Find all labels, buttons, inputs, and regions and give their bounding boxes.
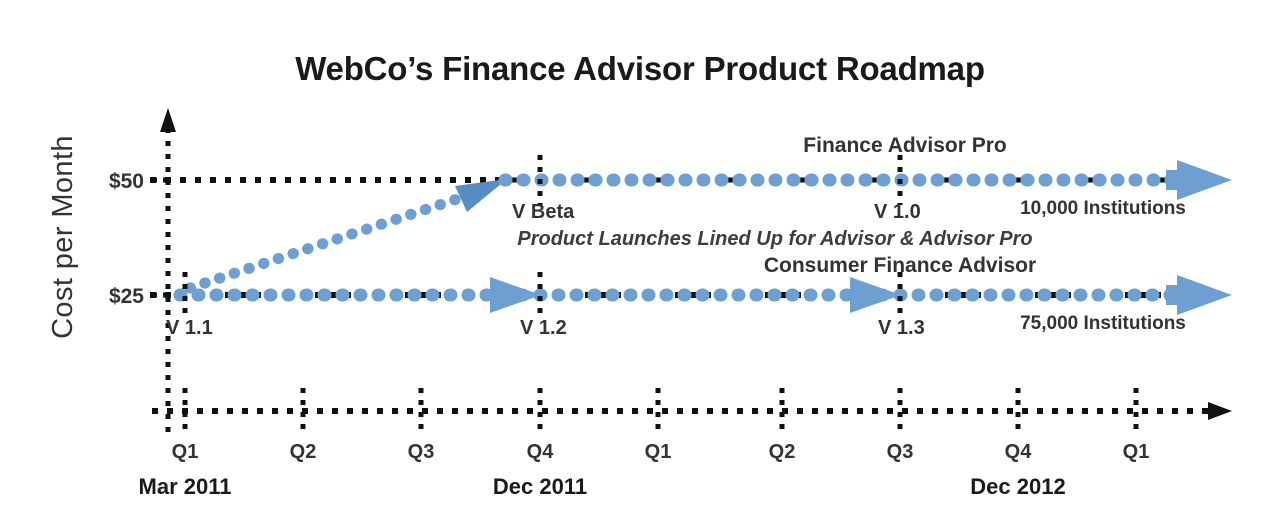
period-label-dec-2011: Dec 2011	[493, 474, 587, 499]
series-consumer-mid-arrow-2-icon	[850, 277, 901, 313]
milestone-v-beta-label: V Beta	[512, 201, 575, 223]
x-period-labels: Mar 2011 Dec 2011 Dec 2012	[139, 474, 1066, 499]
series-pro-end-arrow-icon	[1177, 160, 1232, 200]
x-tick-label-2: Q3	[408, 441, 435, 463]
ramp-arrowhead-icon	[455, 179, 507, 212]
x-tick-label-6: Q3	[887, 441, 914, 463]
x-tick-label-1: Q2	[290, 441, 317, 463]
series-pro-name-label: Finance Advisor Pro	[803, 134, 1006, 157]
x-axis: Q1 Q2 Q3 Q4 Q1 Q2 Q3 Q4 Q1 Mar 2011 Dec …	[139, 388, 1232, 499]
series-consumer-end-arrow-tail	[1166, 285, 1180, 305]
x-tick-label-5: Q2	[769, 441, 796, 463]
ramp-dots	[190, 196, 466, 288]
period-label-dec-2012: Dec 2012	[970, 474, 1065, 499]
milestone-v12: V 1.2	[520, 272, 567, 339]
series-consumer-name-label: Consumer Finance Advisor	[764, 254, 1036, 277]
period-label-mar-2011: Mar 2011	[139, 474, 232, 499]
y-axis	[160, 108, 176, 432]
page-title: WebCo’s Finance Advisor Product Roadmap	[295, 50, 985, 87]
x-axis-arrow-icon	[1208, 402, 1232, 420]
x-tick-labels: Q1 Q2 Q3 Q4 Q1 Q2 Q3 Q4 Q1	[172, 441, 1150, 463]
series-consumer-end-arrow-icon	[1177, 275, 1232, 315]
series-pro-endcap-label: 10,000 Institutions	[1020, 198, 1186, 219]
series-consumer-finance-advisor: V 1.1 V 1.2 V 1.3 Consumer Finance Advis…	[166, 254, 1232, 339]
series-finance-advisor-pro: V Beta V 1.0 Finance Advisor Pro 10,000 …	[190, 134, 1232, 288]
roadmap-chart-page: WebCo’s Finance Advisor Product Roadmap …	[0, 0, 1280, 517]
annotation-product-launches: Product Launches Lined Up for Advisor & …	[517, 228, 1032, 250]
ramp-dotted-line	[190, 179, 507, 288]
milestone-v13: V 1.3	[878, 272, 925, 339]
milestone-v13-label: V 1.3	[878, 317, 925, 339]
milestone-v10-label: V 1.0	[874, 201, 921, 223]
x-tick-label-3: Q4	[527, 441, 555, 463]
x-tick-label-0: Q1	[172, 441, 199, 463]
y-tick-label-25: $25	[109, 285, 144, 308]
y-tick-25: $25	[109, 285, 168, 308]
x-tick-label-7: Q4	[1005, 441, 1033, 463]
milestone-v11-label: V 1.1	[166, 317, 213, 339]
series-pro-end-arrow-tail	[1166, 170, 1180, 190]
x-tick-label-4: Q1	[645, 441, 672, 463]
x-tick-label-8: Q1	[1123, 441, 1150, 463]
y-axis-title: Cost per Month	[47, 135, 79, 339]
y-axis-arrow-icon	[160, 108, 176, 132]
milestone-v-beta: V Beta	[512, 155, 575, 223]
roadmap-chart: WebCo’s Finance Advisor Product Roadmap …	[0, 0, 1280, 517]
y-tick-label-50: $50	[109, 170, 144, 193]
series-consumer-endcap-label: 75,000 Institutions	[1020, 313, 1186, 334]
series-consumer-mid-arrow-1-icon	[490, 277, 541, 313]
y-tick-50: $50	[109, 170, 168, 193]
milestone-v10: V 1.0	[874, 155, 921, 223]
milestone-v12-label: V 1.2	[520, 317, 567, 339]
